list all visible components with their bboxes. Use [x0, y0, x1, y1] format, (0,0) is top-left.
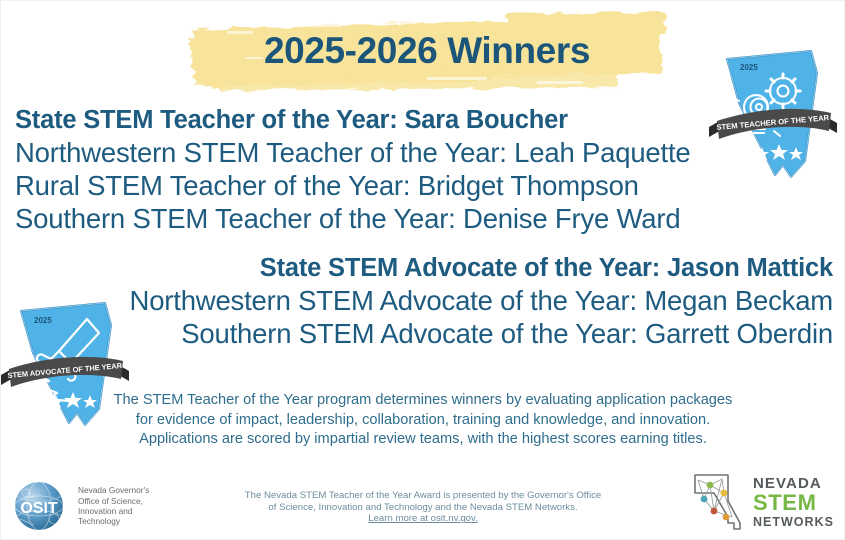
- nsn-word-stem: STEM: [753, 492, 834, 514]
- osit-logo-text: Nevada Governor's Office of Science, Inn…: [78, 485, 149, 527]
- award-line-southern-teacher: Southern STEM Teacher of the Year: Denis…: [15, 202, 691, 235]
- osit-logo: OSIT Nevada Governor's Office of Science…: [6, 477, 171, 535]
- stem-advocate-of-the-year-badge: 2025 STEM ADVOCATE OF THE YEAR: [0, 297, 131, 429]
- osit-website-link[interactable]: Learn more at osit.nv.gov.: [368, 513, 478, 524]
- node-green: [707, 482, 714, 489]
- osit-text-line-4: Technology: [78, 516, 149, 526]
- nevada-network-icon: [690, 471, 746, 533]
- osit-text-line-3: Innovation and: [78, 506, 149, 516]
- node-teal: [701, 496, 708, 503]
- award-line-northwestern-teacher: Northwestern STEM Teacher of the Year: L…: [15, 136, 691, 169]
- node-red: [711, 508, 718, 515]
- fineprint: The Nevada STEM Teacher of the Year Awar…: [183, 490, 663, 525]
- osit-text-line-2: Office of Science,: [78, 496, 149, 506]
- award-line-southern-advocate: Southern STEM Advocate of the Year: Garr…: [130, 317, 833, 350]
- node-yellow: [721, 490, 728, 497]
- nsn-logo-text: NEVADA STEM NETWORKS: [753, 476, 834, 529]
- award-line-state-teacher: State STEM Teacher of the Year: Sara Bou…: [15, 104, 691, 136]
- node-orange: [723, 514, 730, 521]
- badge-year-teacher: 2025: [740, 63, 758, 72]
- badge-year-advocate: 2025: [34, 316, 52, 325]
- nsn-word-nevada: NEVADA: [753, 476, 834, 491]
- teacher-awards-list: State STEM Teacher of the Year: Sara Bou…: [15, 104, 691, 235]
- osit-wordmark: OSIT: [20, 500, 58, 517]
- winners-poster: 2025-2026 Winners State STEM Teacher of …: [0, 0, 845, 540]
- nevada-outline: [695, 475, 740, 529]
- program-description: The STEM Teacher of the Year program det…: [113, 391, 733, 450]
- award-line-northwestern-advocate: Northwestern STEM Advocate of the Year: …: [130, 284, 833, 317]
- nevada-stem-networks-logo: NEVADA STEM NETWORKS: [690, 469, 838, 535]
- award-line-state-advocate: State STEM Advocate of the Year: Jason M…: [130, 252, 833, 284]
- page-title: 2025-2026 Winners: [187, 25, 667, 77]
- fineprint-line-1: The Nevada STEM Teacher of the Year Awar…: [183, 490, 663, 502]
- fineprint-line-2: of Science, Innovation and Technology an…: [183, 502, 663, 514]
- nsn-word-networks: NETWORKS: [753, 516, 834, 529]
- osit-text-line-1: Nevada Governor's: [78, 485, 149, 495]
- osit-globe-icon: OSIT: [6, 479, 72, 533]
- award-line-rural-teacher: Rural STEM Teacher of the Year: Bridget …: [15, 169, 691, 202]
- advocate-awards-list: State STEM Advocate of the Year: Jason M…: [130, 252, 833, 350]
- stem-teacher-of-the-year-badge: 2025: [707, 43, 839, 183]
